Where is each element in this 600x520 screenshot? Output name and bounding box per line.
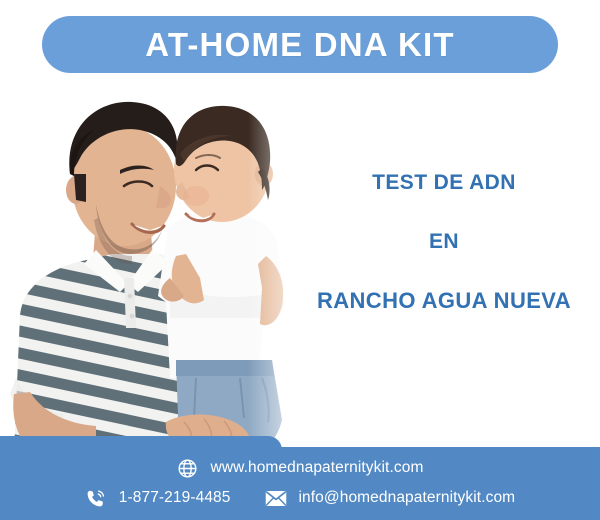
phone-icon: [85, 487, 107, 509]
footer-email-label: info@homednapaternitykit.com: [299, 490, 516, 506]
page-title: AT-HOME DNA KIT: [145, 28, 454, 61]
footer-phone-label: 1-877-219-4485: [119, 490, 231, 506]
footer-row-phone-email: 1-877-219-4485 info@homednapaternitykit.…: [0, 487, 600, 509]
footer-email-item[interactable]: info@homednapaternitykit.com: [265, 487, 516, 509]
family-photo: [0, 78, 318, 453]
location-copy-block: TEST DE ADN EN RANCHO AGUA NUEVA: [296, 160, 592, 312]
footer-row-website: www.homednapaternitykit.com: [0, 457, 600, 479]
family-photo-illustration: [0, 78, 318, 453]
copy-line-location: RANCHO AGUA NUEVA: [296, 290, 592, 312]
globe-icon: [177, 457, 199, 479]
footer-contact-rows: www.homednapaternitykit.com 1-877-219-44…: [0, 447, 600, 520]
copy-line-preposition: EN: [296, 231, 592, 252]
copy-line-service: TEST DE ADN: [296, 172, 592, 193]
footer-phone-item[interactable]: 1-877-219-4485: [85, 487, 231, 509]
envelope-icon: [265, 487, 287, 509]
header-pill: AT-HOME DNA KIT: [42, 16, 558, 73]
footer-website-label: www.homednapaternitykit.com: [211, 460, 424, 476]
promo-banner: AT-HOME DNA KIT: [0, 0, 600, 520]
footer-website-item[interactable]: www.homednapaternitykit.com: [177, 457, 424, 479]
